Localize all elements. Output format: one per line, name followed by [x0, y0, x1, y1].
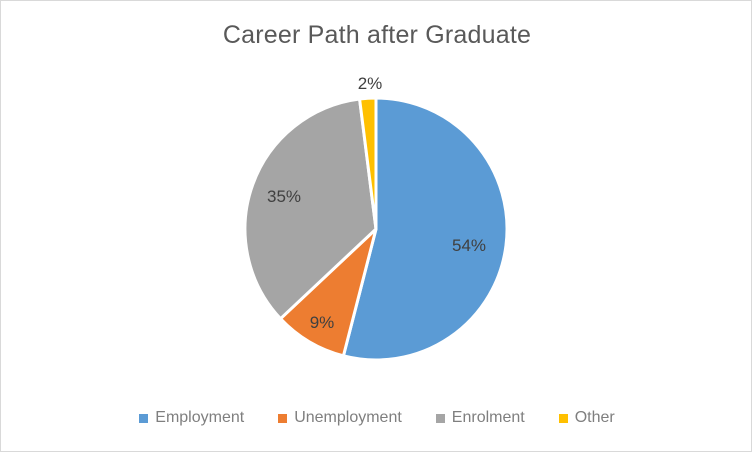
pie-data-label: 9% [310, 313, 335, 333]
pie-slice-group [245, 98, 507, 360]
legend-item-label: Enrolment [452, 409, 525, 427]
legend-item[interactable]: Enrolment [436, 409, 525, 427]
pie-data-label: 2% [358, 74, 383, 94]
pie-data-label: 35% [267, 187, 301, 207]
legend-item[interactable]: Employment [139, 409, 244, 427]
legend-swatch-icon [139, 414, 148, 423]
legend-item-label: Unemployment [294, 409, 402, 427]
legend-item[interactable]: Unemployment [278, 409, 402, 427]
legend-item[interactable]: Other [559, 409, 615, 427]
pie-data-label: 54% [452, 236, 486, 256]
pie-svg [1, 1, 752, 452]
chart-legend: EmploymentUnemploymentEnrolmentOther [1, 409, 752, 427]
legend-item-label: Other [575, 409, 615, 427]
legend-swatch-icon [278, 414, 287, 423]
legend-swatch-icon [436, 414, 445, 423]
legend-swatch-icon [559, 414, 568, 423]
chart-frame: Career Path after Graduate 54%9%35%2% Em… [0, 0, 752, 452]
legend-item-label: Employment [155, 409, 244, 427]
pie-chart-plot-area: 54%9%35%2% [1, 1, 752, 452]
